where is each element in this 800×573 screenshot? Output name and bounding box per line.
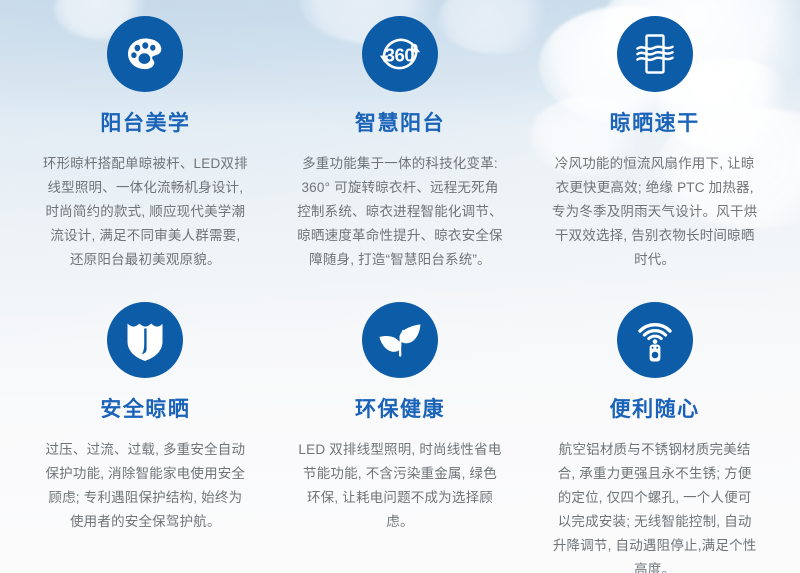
- feature-grid: 阳台美学 环形晾杆搭配单晾被杆、LED双排线型照明、一体化流畅机身设计, 时尚简…: [0, 0, 800, 573]
- feature-title: 阳台美学: [100, 113, 190, 134]
- feature-card-smart-balcony: 360 智慧阳台 多重功能集于一体的科技化变革: 360° 可旋转晾衣杆、远程无…: [273, 16, 528, 300]
- leaf-icon: [362, 302, 438, 378]
- feature-description: 冷风功能的恒流风扇作用下, 让晾衣更快更高效; 绝缘 PTC 加热器, 专为冬季…: [551, 152, 758, 272]
- feature-description: 过压、过流、过载, 多重安全自动保护功能, 消除智能家电使用安全顾虑; 专利遇阻…: [42, 438, 249, 534]
- feature-card-fast-dry: 晾晒速干 冷风功能的恒流风扇作用下, 让晾衣更快更高效; 绝缘 PTC 加热器,…: [527, 16, 782, 300]
- feature-description: LED 双排线型照明, 时尚线性省电节能功能, 不含污染重金属, 绿色环保, 让…: [297, 438, 504, 534]
- feature-description: 环形晾杆搭配单晾被杆、LED双排线型照明、一体化流畅机身设计, 时尚简约的款式,…: [42, 152, 249, 272]
- feature-title: 便利随心: [610, 399, 700, 420]
- feature-card-convenience: 便利随心 航空铝材质与不锈钢材质完美结合, 承重力更强且永不生锈; 方便的定位,…: [527, 300, 782, 573]
- wind-flow-icon: [617, 16, 693, 92]
- feature-title: 晾晒速干: [610, 113, 700, 134]
- feature-description: 多重功能集于一体的科技化变革: 360° 可旋转晾衣杆、远程无死角控制系统、晾衣…: [297, 152, 504, 272]
- feature-card-aesthetics: 阳台美学 环形晾杆搭配单晾被杆、LED双排线型照明、一体化流畅机身设计, 时尚简…: [18, 16, 273, 300]
- feature-title: 智慧阳台: [355, 113, 445, 134]
- feature-showcase-page: 阳台美学 环形晾杆搭配单晾被杆、LED双排线型照明、一体化流畅机身设计, 时尚简…: [0, 0, 800, 573]
- wireless-remote-icon: [617, 302, 693, 378]
- feature-card-eco: 环保健康 LED 双排线型照明, 时尚线性省电节能功能, 不含污染重金属, 绿色…: [273, 300, 528, 573]
- svg-text:360: 360: [385, 45, 415, 66]
- feature-title: 安全晾晒: [100, 399, 190, 420]
- feature-card-safety: 安全晾晒 过压、过流、过载, 多重安全自动保护功能, 消除智能家电使用安全顾虑;…: [18, 300, 273, 573]
- shield-icon: [107, 302, 183, 378]
- paint-palette-icon: [107, 16, 183, 92]
- feature-title: 环保健康: [355, 399, 445, 420]
- 360-rotation-icon: 360: [362, 16, 438, 92]
- feature-description: 航空铝材质与不锈钢材质完美结合, 承重力更强且永不生锈; 方便的定位, 仅四个螺…: [551, 438, 758, 573]
